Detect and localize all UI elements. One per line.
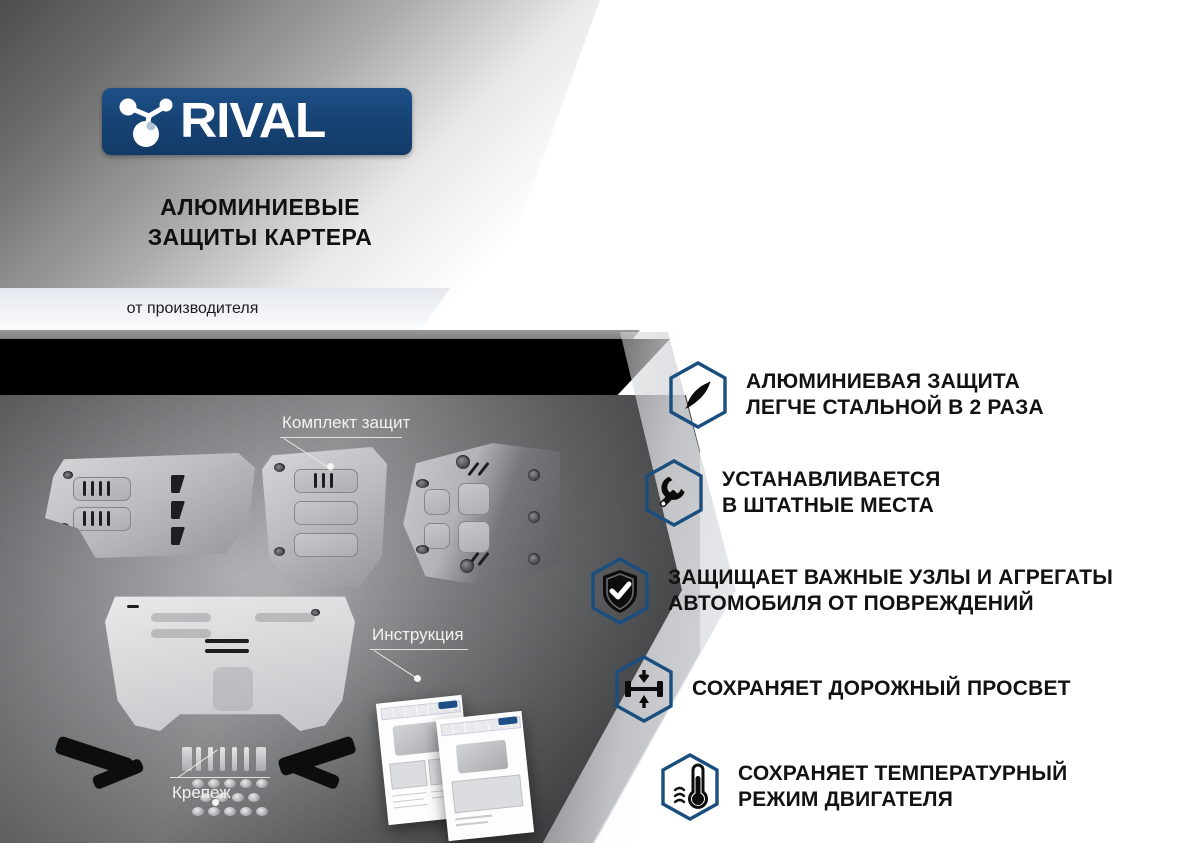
logo-wordmark: RIVAL bbox=[180, 97, 325, 146]
feature-item-weight: АЛЮМИНИЕВАЯ ЗАЩИТА ЛЕГЧЕ СТАЛЬНОЙ В 2 РА… bbox=[666, 360, 1200, 430]
feature-weight-line1: АЛЮМИНИЕВАЯ ЗАЩИТА bbox=[746, 369, 1044, 395]
molecule-icon bbox=[116, 94, 178, 150]
suspension-arm-left bbox=[600, 137, 711, 179]
skid-plate-upper bbox=[690, 12, 970, 260]
label-kit: Комплект защит bbox=[282, 413, 410, 433]
headline-line-2: ЗАЩИТЫ КАРТЕРА bbox=[0, 222, 520, 252]
feature-protection-line2: АВТОМОБИЛЯ ОТ ПОВРЕЖДЕНИЙ bbox=[668, 591, 1113, 617]
chassis-bracket-right bbox=[1020, 280, 1150, 340]
ground-clearance-icon bbox=[612, 654, 676, 724]
suspension-arm-right bbox=[960, 137, 1071, 179]
label-hardware: Крепеж bbox=[172, 783, 231, 803]
feature-item-clearance: СОХРАНЯЕТ ДОРОЖНЫЙ ПРОСВЕТ bbox=[612, 654, 1200, 724]
branding-panel: RIVAL АЛЮМИНИЕВЫЕ ЗАЩИТЫ КАРТЕРА от прои… bbox=[0, 0, 600, 345]
product-poster: Преимущества bbox=[0, 0, 1200, 848]
feature-item-fitment: УСТАНАВЛИВАЕТСЯ В ШТАТНЫЕ МЕСТА bbox=[642, 458, 1200, 528]
label-manual: Инструкция bbox=[372, 625, 464, 645]
subtitle-text: от производителя bbox=[0, 288, 405, 330]
features-list: АЛЮМИНИЕВАЯ ЗАЩИТА ЛЕГЧЕ СТАЛЬНОЙ В 2 РА… bbox=[600, 360, 1200, 848]
tie-rod-left bbox=[600, 160, 670, 169]
advantages-tab-label: Преимущества bbox=[1016, 295, 1121, 312]
feature-protection-line1: ЗАЩИЩАЕТ ВАЖНЫЕ УЗЛЫ И АГРЕГАТЫ bbox=[668, 565, 1113, 591]
wrench-icon bbox=[642, 458, 706, 528]
divider-black bbox=[0, 339, 670, 401]
tie-rod-right bbox=[1000, 160, 1070, 169]
chassis-hole bbox=[575, 300, 597, 322]
thermometer-icon bbox=[658, 752, 722, 822]
shield-check-icon bbox=[588, 556, 652, 626]
divider-gray bbox=[0, 330, 640, 340]
feature-temperature-line2: РЕЖИМ ДВИГАТЕЛЯ bbox=[738, 787, 1067, 813]
bottom-border bbox=[0, 843, 1200, 848]
skid-plate-c bbox=[400, 443, 560, 588]
feature-clearance-line1: СОХРАНЯЕТ ДОРОЖНЫЙ ПРОСВЕТ bbox=[692, 676, 1071, 702]
skid-plate-b bbox=[262, 447, 387, 587]
skid-plate-front bbox=[105, 591, 355, 731]
tire-right bbox=[1090, 30, 1200, 355]
advantages-tab: Преимущества bbox=[970, 286, 1200, 320]
feature-temperature-line1: СОХРАНЯЕТ ТЕМПЕРАТУРНЫЙ bbox=[738, 761, 1067, 787]
feather-icon bbox=[666, 360, 730, 430]
feature-fitment-line2: В ШТАТНЫЕ МЕСТА bbox=[722, 493, 941, 519]
feature-weight-line2: ЛЕГЧЕ СТАЛЬНОЙ В 2 РАЗА bbox=[746, 395, 1044, 421]
rival-logo: RIVAL bbox=[102, 88, 412, 155]
page-title: АЛЮМИНИЕВЫЕ ЗАЩИТЫ КАРТЕРА bbox=[0, 192, 520, 253]
subtitle-strip: от производителя bbox=[0, 288, 450, 330]
feature-item-protection: ЗАЩИЩАЕТ ВАЖНЫЕ УЗЛЫ И АГРЕГАТЫ АВТОМОБИ… bbox=[588, 556, 1200, 626]
feature-fitment-line1: УСТАНАВЛИВАЕТСЯ bbox=[722, 467, 941, 493]
instruction-sheet-2 bbox=[436, 711, 534, 841]
feature-item-temperature: СОХРАНЯЕТ ТЕМПЕРАТУРНЫЙ РЕЖИМ ДВИГАТЕЛЯ bbox=[658, 752, 1200, 822]
headline-line-1: АЛЮМИНИЕВЫЕ bbox=[0, 192, 520, 222]
